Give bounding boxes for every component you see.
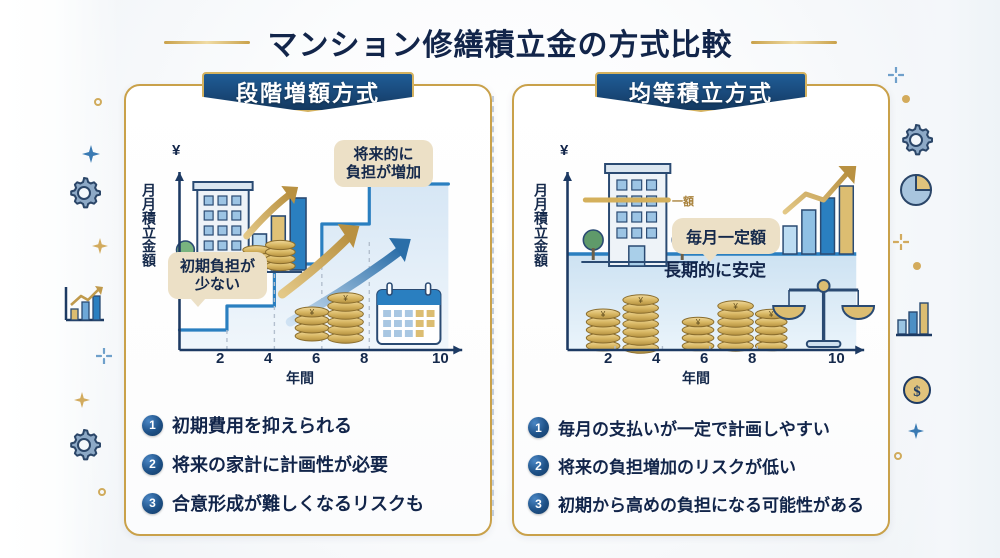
chart-equal-accumulation: ¥ ¥ ¥ [524,138,878,386]
gold-ring-icon [98,488,106,496]
panel-staged-increase[interactable]: 段階増額方式 月月積立金額 [124,84,492,536]
panel-divider [492,96,494,516]
list-item[interactable]: 1 毎月の支払いが一定で計画しやすい [528,415,882,440]
bullet-text: 初期費用を抑えられる [172,412,352,438]
list-item[interactable]: 3 合意形成が難しくなるリスクも [142,490,480,516]
list-item[interactable]: 3 初期から高めの負担になる可能性がある [528,491,882,516]
callout-future-increase-line1: 将来的に [346,146,421,164]
dollar-coin-icon: $ [902,375,932,410]
chart-yen-symbol-left: ¥ [172,142,180,159]
x-tick-4: 4 [652,350,660,367]
bullet-text: 合意形成が難しくなるリスクも [172,490,424,516]
callout-tail [190,298,206,307]
svg-text:¥: ¥ [696,318,701,327]
callout-early-burden-line1: 初期負担が [180,258,255,276]
chart-level-label: 一額 [672,193,694,209]
list-item[interactable]: 2 将来の家計に計画性が必要 [142,451,480,477]
gold-sparkle-icon [92,238,108,259]
chart-yen-symbol-right: ¥ [560,142,568,159]
list-item[interactable]: 1 初期費用を抑えられる [142,412,480,438]
bullet-number: 2 [528,455,549,476]
x-tick-2: 2 [604,350,612,367]
bullet-number: 3 [528,493,549,514]
pie-chart-icon [898,172,934,213]
chart-staged-increase: ¥ ¥ [136,138,480,386]
callout-future-increase: 将来的に 負担が増加 [334,140,433,187]
gold-sparkle-icon [74,392,90,413]
left-edge-sheen [0,0,120,558]
bullet-number: 1 [528,417,549,438]
bullet-text: 初期から高めの負担になる可能性がある [558,491,864,516]
blue-sparkle-small-icon [888,67,904,88]
blue-sparkle-icon [908,423,924,444]
title-rule-left [164,41,250,44]
page-title-row: マンション修繕積立金の方式比較 [0,18,1000,66]
chart-x-axis-label-left: 年間 [286,368,314,388]
gold-dot-icon [902,95,910,103]
title-rule-right [751,41,837,44]
chart-band-label: 長期的に安定 [664,256,766,281]
bar-chart-icon [894,300,934,343]
callout-fixed-monthly: 毎月一定額 [672,218,780,254]
panel-equal-banner: 均等積立方式 [595,72,807,112]
bar-chart-icon [783,166,856,254]
x-tick-8: 8 [748,350,756,367]
bullet-list-staged: 1 初期費用を抑えられる 2 将来の家計に計画性が必要 3 合意形成が難しくなる… [142,412,480,516]
x-tick-6: 6 [700,350,708,367]
x-tick-10: 10 [432,350,449,367]
gold-sparkle-small-icon [893,234,909,255]
svg-text:¥: ¥ [769,310,774,319]
chart-x-ticks-left: 2 4 6 8 10 [136,350,480,370]
x-tick-8: 8 [360,350,368,367]
callout-early-burden: 初期負担が 少ない [168,252,267,299]
panel-staged-banner: 段階増額方式 [202,72,414,112]
gold-ring-icon [894,452,902,460]
page-title: マンション修繕積立金の方式比較 [268,20,733,64]
chart-x-axis-label-right: 年間 [682,368,710,388]
bullet-text: 毎月の支払いが一定で計画しやすい [558,415,830,440]
calendar-icon [377,283,440,344]
x-tick-2: 2 [216,350,224,367]
callout-early-burden-line2: 少ない [180,276,255,294]
svg-text:¥: ¥ [733,302,738,311]
svg-text:¥: ¥ [638,296,643,305]
x-tick-4: 4 [264,350,272,367]
gold-ring-icon [94,98,102,106]
gear-icon [66,427,102,468]
gold-dot-icon [913,262,921,270]
x-tick-6: 6 [312,350,320,367]
callout-future-increase-line2: 負担が増加 [346,164,421,182]
svg-text:¥: ¥ [343,294,348,303]
line-chart-icon [62,285,106,330]
callout-fixed-monthly-label: 毎月一定額 [686,224,766,248]
panel-equal-accumulation[interactable]: 均等積立方式 月月積立金額 [512,84,890,536]
bullet-number: 2 [142,454,163,475]
right-edge-sheen [880,0,1000,558]
svg-text:¥: ¥ [601,310,606,319]
svg-text:¥: ¥ [310,308,315,317]
gear-icon [898,122,934,163]
bullet-number: 1 [142,415,163,436]
x-tick-10: 10 [828,350,845,367]
bullet-number: 3 [142,493,163,514]
blue-sparkle-icon [82,145,100,168]
svg-text:$: $ [913,384,921,400]
blue-sparkle-small-icon [96,348,112,369]
bullet-text: 将来の負担増加のリスクが低い [558,453,796,478]
list-item[interactable]: 2 将来の負担増加のリスクが低い [528,453,882,478]
bullet-list-equal: 1 毎月の支払いが一定で計画しやすい 2 将来の負担増加のリスクが低い 3 初期… [528,415,882,516]
bullet-text: 将来の家計に計画性が必要 [172,451,388,477]
chart-x-ticks-right: 2 4 6 8 10 [524,350,878,370]
gear-icon [66,175,102,216]
